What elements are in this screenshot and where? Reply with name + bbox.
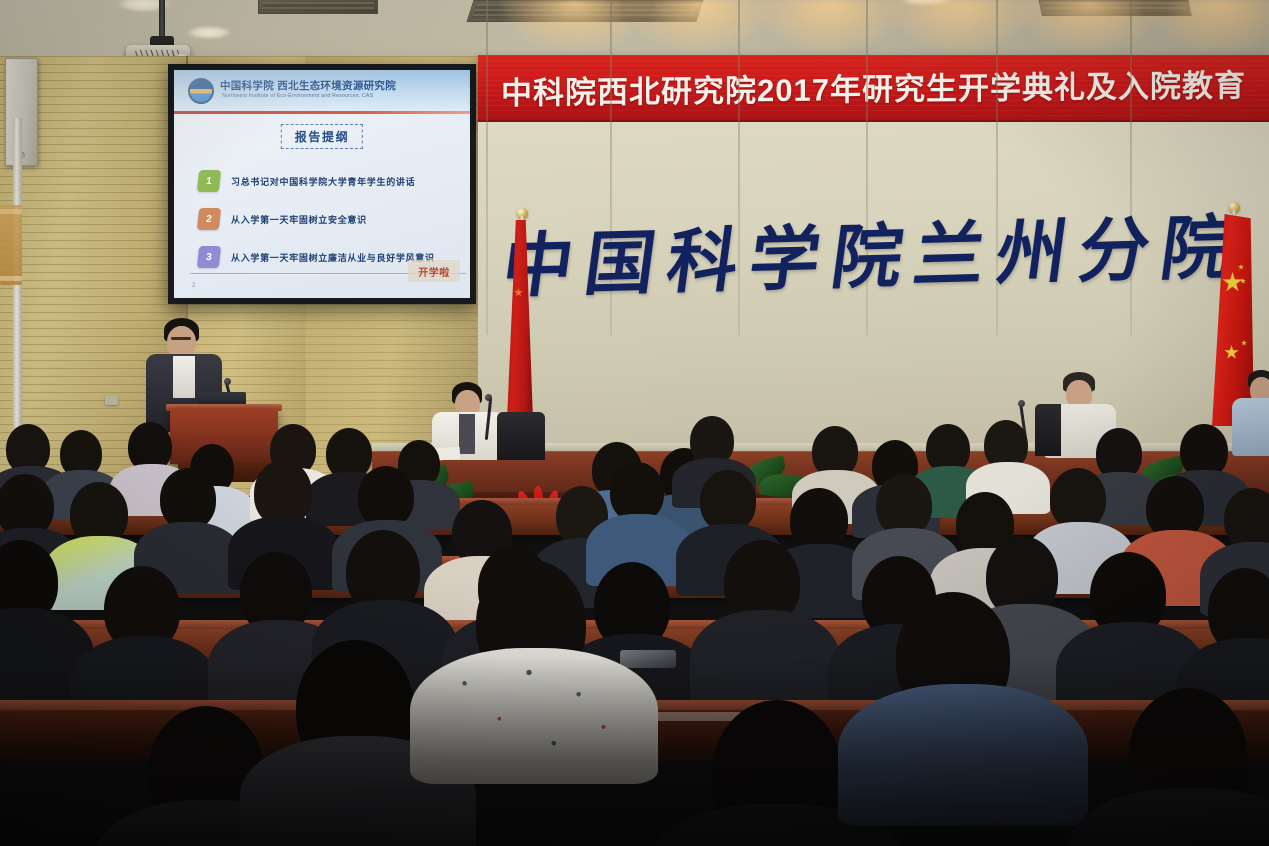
foreground-shoulders [1070,788,1269,846]
audience-foreground [0,0,1269,846]
foreground-shoulders-denim [838,684,1088,826]
foreground-shoulders-floral [410,648,658,784]
lecture-hall-photo: 中国科学院 西北生态环境资源研究院 Northwest Institute of… [0,0,1269,846]
